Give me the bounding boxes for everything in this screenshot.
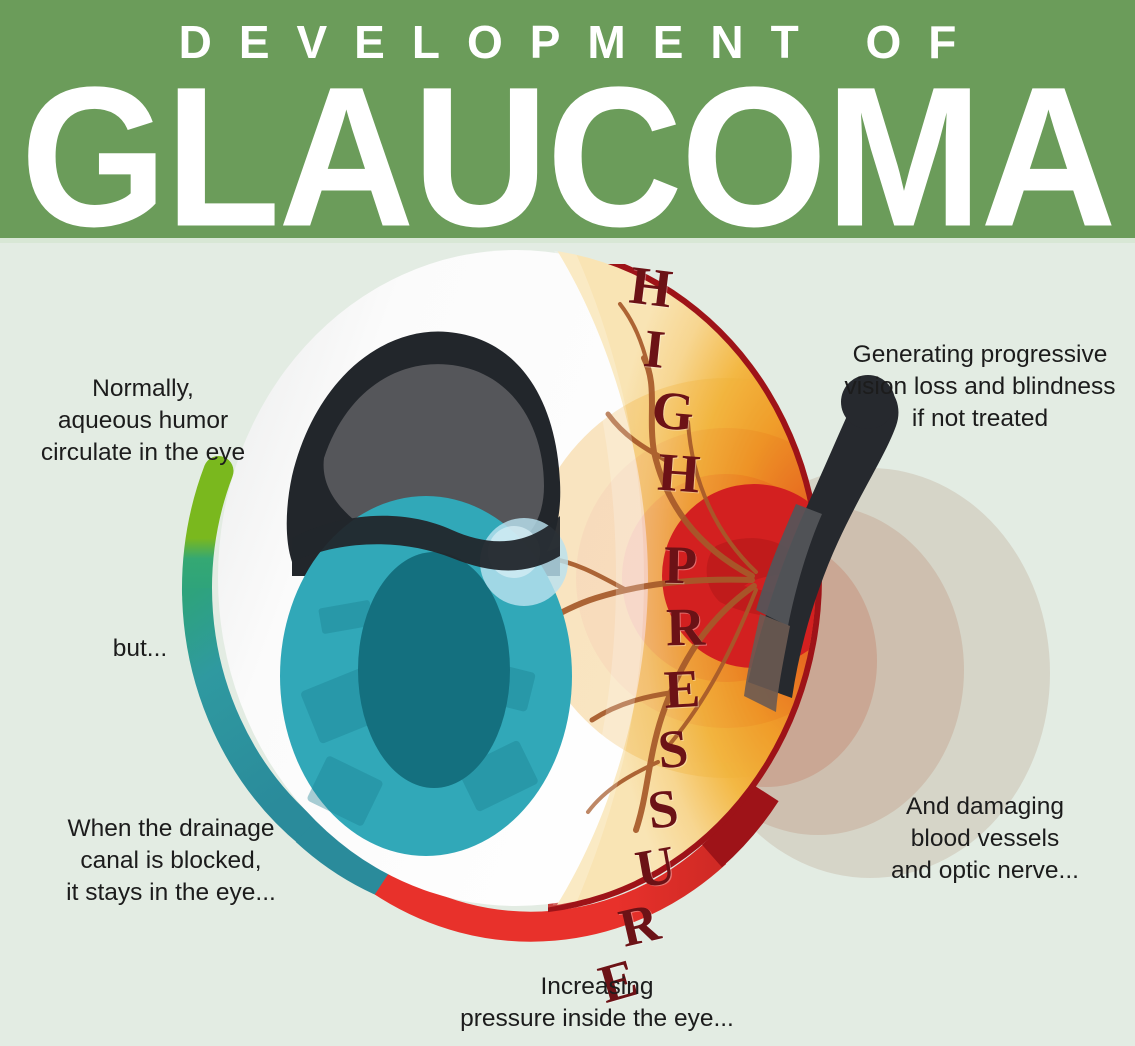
infographic-root: DEVELOPMENT OF GLAUCOMA	[0, 0, 1135, 1046]
label-but: but...	[60, 633, 220, 665]
label-vision-loss: Generating progressive vision loss and b…	[830, 339, 1130, 435]
label-increasing-pressure: Increasing pressure inside the eye...	[392, 971, 802, 1035]
diagram-stage: H I G H P R E S S U R E Normally, aqueou…	[0, 243, 1135, 1046]
header-banner: DEVELOPMENT OF GLAUCOMA	[0, 0, 1135, 238]
label-normal-flow: Normally, aqueous humor circulate in the…	[14, 373, 272, 469]
page-title: GLAUCOMA	[0, 62, 1135, 238]
label-blocked-drainage: When the drainage canal is blocked, it s…	[26, 813, 316, 909]
label-nerve-damage: And damaging blood vessels and optic ner…	[855, 791, 1115, 887]
